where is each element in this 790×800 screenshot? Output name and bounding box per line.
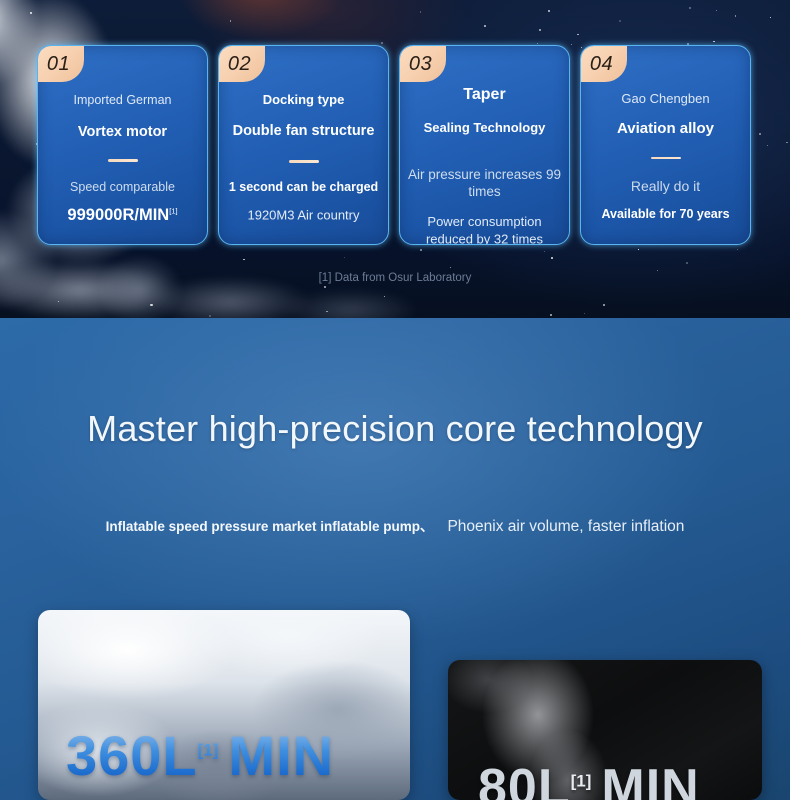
card-title: Aviation alloy bbox=[617, 119, 714, 139]
card-number: 01 bbox=[47, 54, 70, 74]
star-dot bbox=[735, 15, 737, 17]
metric-footnote-marker: [1] bbox=[571, 772, 592, 791]
card-detail-value: 999000R/MIN[1] bbox=[67, 205, 177, 226]
section-subheadline: Inflatable speed pressure market inflata… bbox=[0, 515, 790, 536]
card-divider bbox=[651, 157, 681, 160]
metric-airflow-primary: 360L[1]MIN bbox=[66, 728, 334, 784]
star-dot bbox=[716, 10, 717, 11]
star-dot bbox=[619, 20, 621, 22]
card-body: Gao Chengben Aviation alloy Really do it… bbox=[581, 80, 750, 245]
star-dot bbox=[551, 257, 553, 259]
star-dot bbox=[230, 20, 231, 21]
star-dot bbox=[384, 296, 385, 297]
card-title: Vortex motor bbox=[78, 123, 167, 142]
card-detail-label: 1 second can be charged bbox=[229, 179, 378, 195]
star-dot bbox=[243, 259, 245, 261]
card-body: Docking type Double fan structure 1 seco… bbox=[219, 80, 388, 245]
star-dot bbox=[381, 42, 383, 44]
card-number: 03 bbox=[409, 54, 432, 74]
star-dot bbox=[420, 11, 422, 13]
card-detail-value-text: Power consumption reduced by 32 times bbox=[426, 214, 543, 245]
star-dot bbox=[450, 267, 452, 269]
card-subtitle: Gao Chengben bbox=[621, 91, 709, 107]
star-dot bbox=[603, 304, 605, 306]
card-number: 04 bbox=[590, 54, 613, 74]
subheadline-primary: Inflatable speed pressure market inflata… bbox=[106, 515, 434, 535]
card-detail-label: Really do it bbox=[631, 177, 700, 195]
metric-value: 360L bbox=[66, 724, 198, 787]
star-dot bbox=[544, 251, 545, 252]
card-number-badge: 03 bbox=[400, 46, 446, 82]
metric-value: 80L bbox=[478, 759, 571, 800]
card-title: Double fan structure bbox=[233, 122, 375, 141]
star-dot bbox=[713, 41, 715, 43]
card-number-badge: 04 bbox=[581, 46, 627, 82]
card-detail-value-text: 1920M3 Air country bbox=[247, 207, 359, 222]
section-headline: Master high-precision core technology bbox=[0, 408, 790, 450]
card-number-badge: 01 bbox=[38, 46, 84, 82]
metric-footnote-marker: [1] bbox=[198, 740, 219, 759]
data-source-footnote: [1] Data from Osur Laboratory bbox=[0, 272, 790, 284]
star-dot bbox=[686, 262, 688, 264]
card-detail-value-text: 999000R/MIN bbox=[67, 206, 169, 224]
card-detail-value: Available for 70 years bbox=[601, 206, 729, 222]
card-footnote-marker: [1] bbox=[169, 207, 177, 216]
metric-unit: MIN bbox=[228, 724, 334, 787]
star-dot bbox=[30, 12, 31, 13]
card-subtitle: Docking type bbox=[263, 92, 345, 108]
card-number: 02 bbox=[228, 54, 251, 74]
star-dot bbox=[548, 10, 550, 12]
card-detail-label: Speed comparable bbox=[70, 179, 175, 195]
card-title: Sealing Technology bbox=[424, 120, 546, 137]
card-divider bbox=[108, 159, 138, 162]
card-divider bbox=[289, 160, 319, 163]
star-dot bbox=[657, 270, 658, 271]
feature-card-03[interactable]: 03 Taper Sealing Technology Air pressure… bbox=[399, 45, 570, 245]
star-dot bbox=[58, 301, 59, 302]
star-dot bbox=[484, 25, 486, 27]
star-dot bbox=[770, 17, 771, 18]
card-detail-value: 1920M3 Air country bbox=[247, 207, 359, 224]
feature-card-02[interactable]: 02 Docking type Double fan structure 1 s… bbox=[218, 45, 389, 245]
feature-card-row: 01 Imported German Vortex motor Speed co… bbox=[0, 45, 790, 250]
metric-airflow-secondary: 80L[1]MIN bbox=[478, 762, 700, 800]
star-dot bbox=[209, 315, 211, 317]
feature-card-01[interactable]: 01 Imported German Vortex motor Speed co… bbox=[37, 45, 208, 245]
star-dot bbox=[537, 43, 538, 44]
card-body: Imported German Vortex motor Speed compa… bbox=[38, 80, 207, 245]
star-dot bbox=[577, 34, 578, 35]
card-detail-label: Air pressure increases 99 times bbox=[407, 166, 562, 201]
metric-unit: MIN bbox=[601, 759, 699, 800]
feature-card-04[interactable]: 04 Gao Chengben Aviation alloy Really do… bbox=[580, 45, 751, 245]
star-dot bbox=[539, 29, 541, 31]
star-dot bbox=[550, 314, 552, 316]
star-dot bbox=[689, 7, 691, 9]
star-dot bbox=[324, 286, 326, 288]
card-body: Taper Sealing Technology Air pressure in… bbox=[400, 80, 569, 245]
subheadline-secondary: Phoenix air volume, faster inflation bbox=[447, 518, 684, 536]
product-feature-page: 01 Imported German Vortex motor Speed co… bbox=[0, 0, 790, 800]
star-dot bbox=[150, 304, 152, 306]
card-detail-value: Power consumption reduced by 32 times bbox=[407, 214, 562, 245]
star-dot bbox=[584, 313, 585, 314]
star-dot bbox=[344, 257, 345, 258]
card-detail-value-text: Available for 70 years bbox=[601, 208, 729, 222]
star-dot bbox=[326, 311, 328, 313]
card-subtitle: Taper bbox=[463, 85, 505, 105]
card-number-badge: 02 bbox=[219, 46, 265, 82]
card-subtitle: Imported German bbox=[74, 93, 172, 109]
